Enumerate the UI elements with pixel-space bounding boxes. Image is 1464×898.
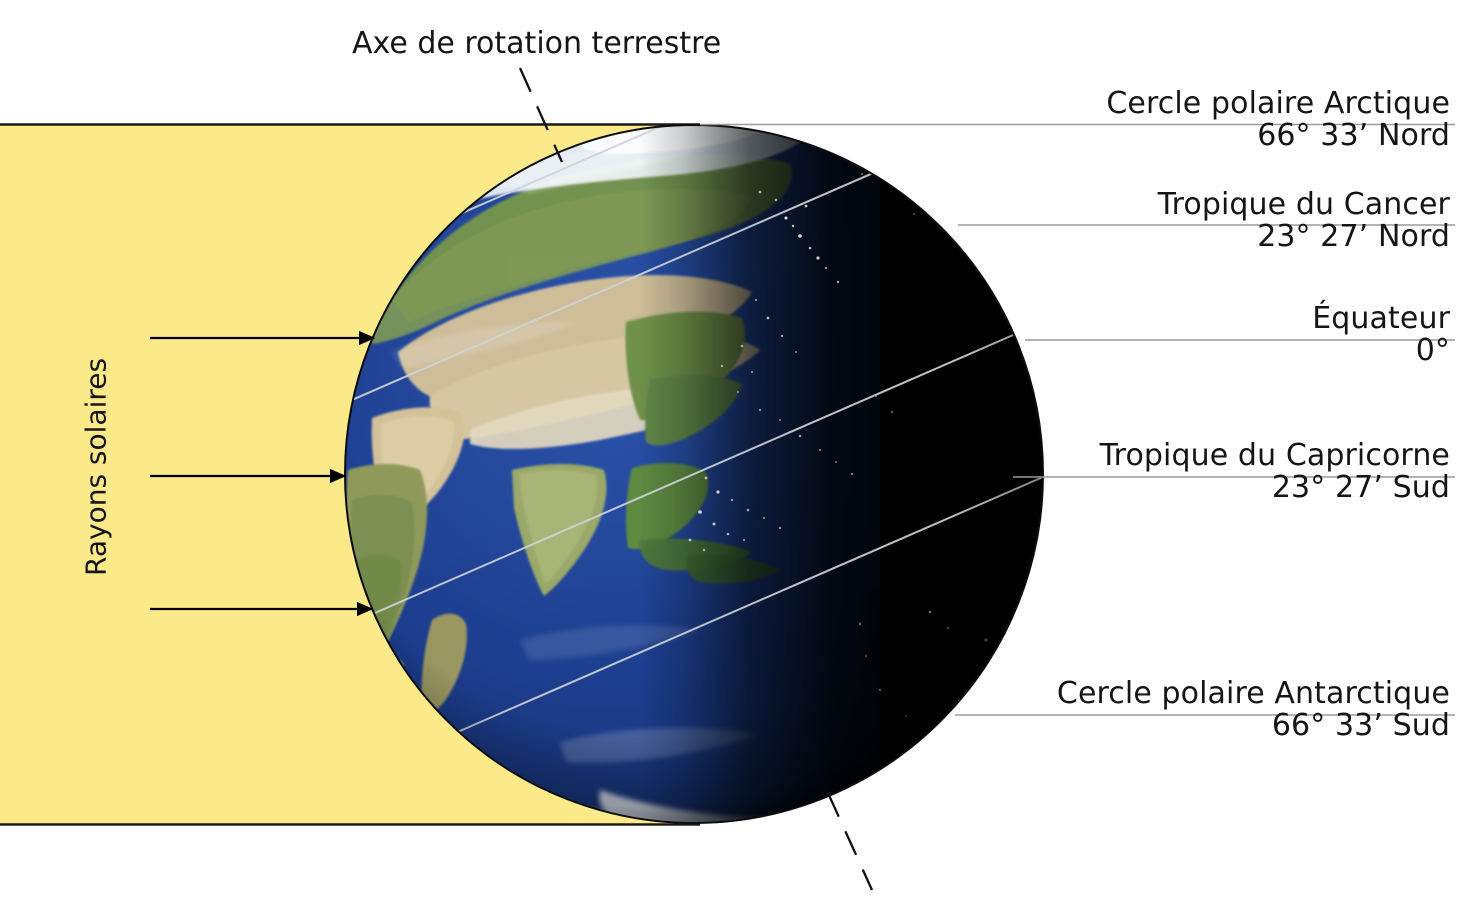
figure-canvas: Axe de rotation terrestre Rayons solaire… [0,0,1464,898]
label-arctic-circle: Cercle polaire Arctique 66° 33’ Nord [1106,88,1450,152]
sun-rays-label: Rayons solaires [76,332,116,602]
label-tropic-cancer-line1: Tropique du Cancer [1158,189,1450,221]
axis-label-text: Axe de rotation terrestre [352,26,721,61]
label-arctic-circle-line2: 66° 33’ Nord [1106,120,1450,152]
rotation-axis-bottom-segment [828,793,872,890]
label-antarctic-circle-line2: 66° 33’ Sud [1057,710,1450,742]
label-antarctic-circle: Cercle polaire Antarctique 66° 33’ Sud [1057,678,1450,742]
axis-label: Axe de rotation terrestre [352,26,721,61]
label-tropic-cancer: Tropique du Cancer 23° 27’ Nord [1158,189,1450,253]
label-tropic-cancer-line2: 23° 27’ Nord [1158,221,1450,253]
label-equator-line1: Équateur [1312,303,1450,335]
sun-rays-label-text: Rayons solaires [80,358,113,576]
label-tropic-capricorn: Tropique du Capricorne 23° 27’ Sud [1100,440,1450,504]
label-equator: Équateur 0° [1312,303,1450,367]
label-tropic-capricorn-line1: Tropique du Capricorne [1100,440,1450,472]
label-equator-line2: 0° [1312,335,1450,367]
label-tropic-capricorn-line2: 23° 27’ Sud [1100,472,1450,504]
label-arctic-circle-line1: Cercle polaire Arctique [1106,88,1450,120]
label-antarctic-circle-line1: Cercle polaire Antarctique [1057,678,1450,710]
